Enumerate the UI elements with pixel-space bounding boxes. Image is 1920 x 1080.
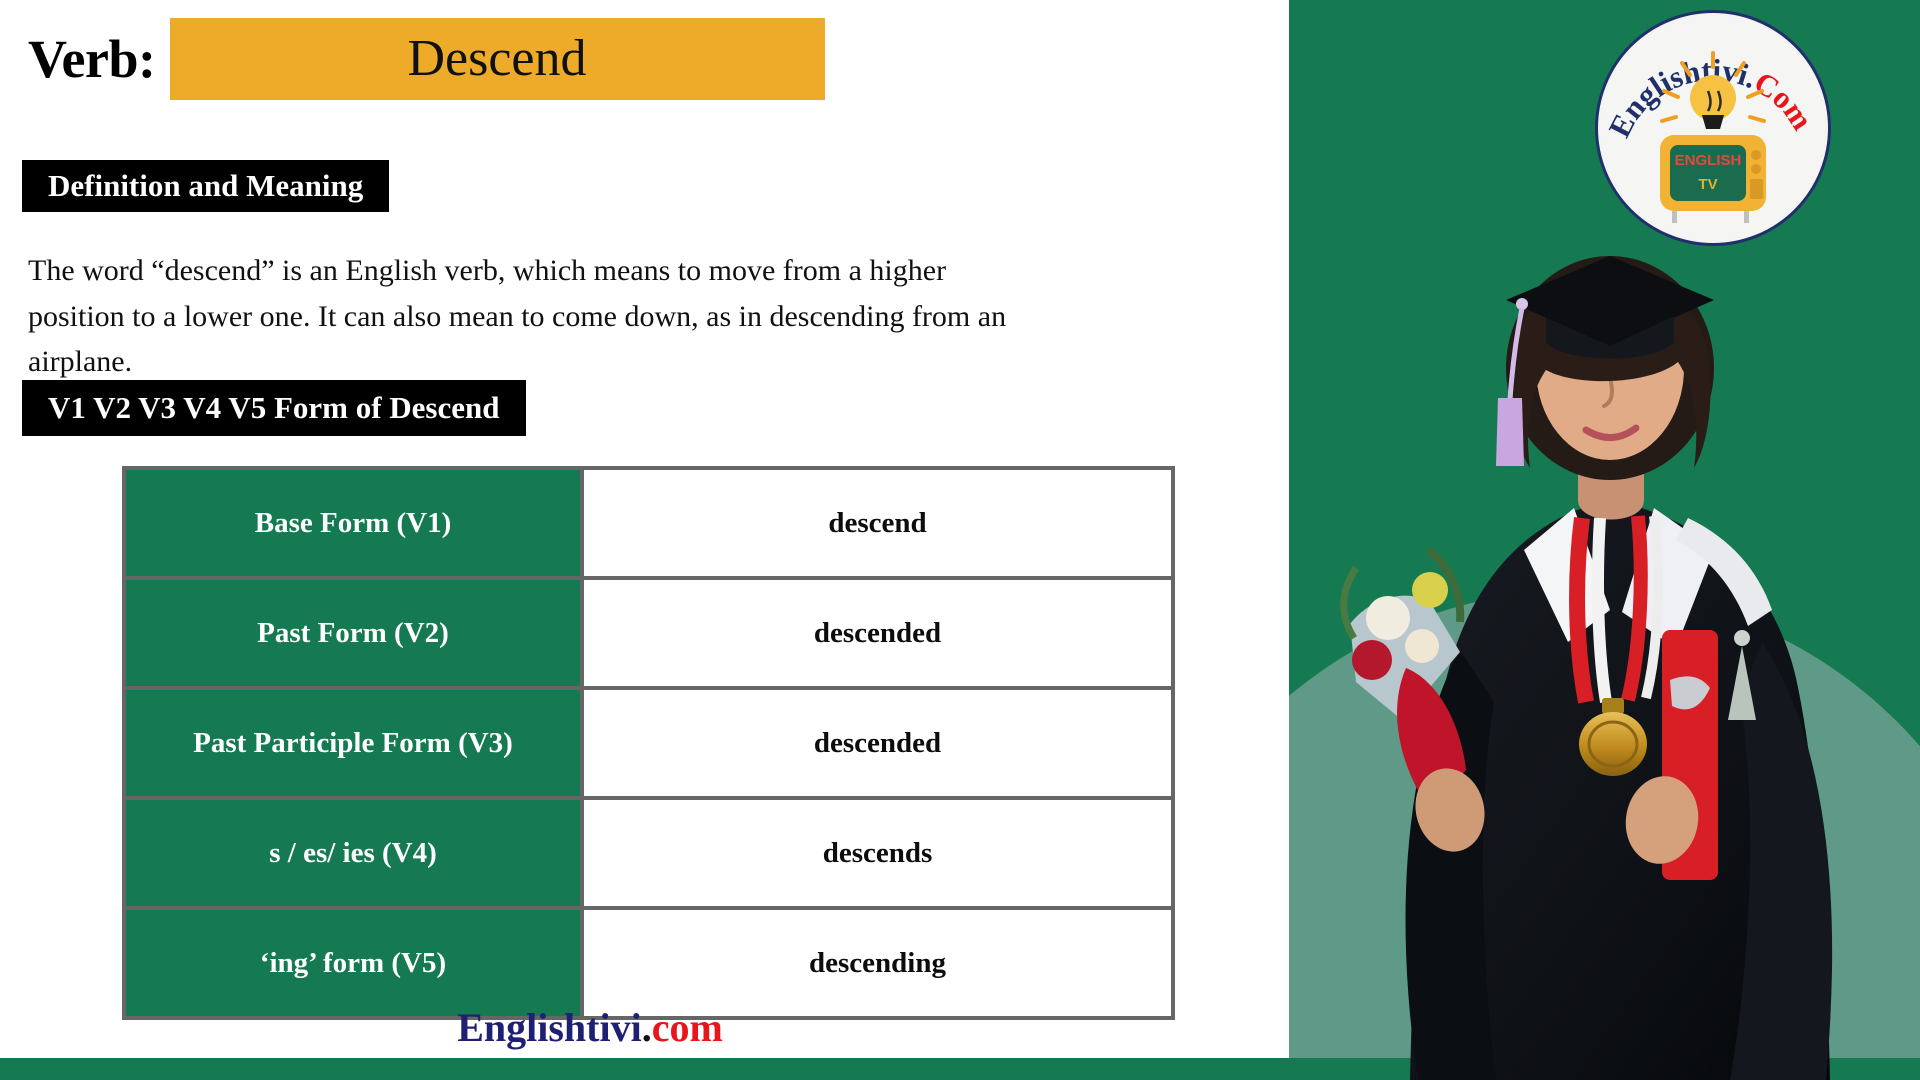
- table-row: Past Participle Form (V3) descended: [124, 688, 1173, 798]
- tv-speaker: [1750, 179, 1763, 199]
- definition-heading: Definition and Meaning: [22, 160, 389, 212]
- lanyard-ribbon-red: [1577, 518, 1586, 702]
- table-cell-value: descended: [582, 688, 1173, 798]
- verb-header: Verb: Descend: [28, 18, 825, 100]
- table-cell-label: s / es/ ies (V4): [124, 798, 582, 908]
- graduate-photo: [1310, 250, 1910, 1080]
- table-cell-value: descend: [582, 468, 1173, 578]
- flower-white-1: [1366, 596, 1410, 640]
- englishtivi-logo[interactable]: Englishtivi.Com: [1595, 10, 1831, 246]
- verb-forms-table: Base Form (V1) descend Past Form (V2) de…: [122, 466, 1175, 1020]
- table-row: s / es/ ies (V4) descends: [124, 798, 1173, 908]
- forms-heading: V1 V2 V3 V4 V5 Form of Descend: [22, 380, 526, 436]
- tv-screen-label: ENGLISH: [1675, 152, 1742, 169]
- footer-brand: Englishtivi.com: [0, 1004, 1180, 1051]
- tv-screen-label-2: TV: [1698, 176, 1717, 193]
- tv-leg-left: [1672, 211, 1677, 223]
- table-cell-label: Past Form (V2): [124, 578, 582, 688]
- tv-leg-right: [1744, 211, 1749, 223]
- verb-word: Descend: [407, 33, 586, 85]
- graduate-illustration: [1310, 250, 1910, 1080]
- flower-red-1: [1352, 640, 1392, 680]
- table-cell-label: Past Participle Form (V3): [124, 688, 582, 798]
- gown-cord-button: [1734, 630, 1750, 646]
- flower-yellow-1: [1412, 572, 1448, 608]
- verb-word-box: Descend: [170, 18, 825, 100]
- footer-brand-name: Englishtivi: [457, 1005, 642, 1050]
- tv-knob-1: [1751, 150, 1761, 160]
- content-pane: Verb: Descend Definition and Meaning The…: [0, 0, 1289, 1080]
- table-row: Base Form (V1) descend: [124, 468, 1173, 578]
- table-row: Past Form (V2) descended: [124, 578, 1173, 688]
- page-root: Verb: Descend Definition and Meaning The…: [0, 0, 1920, 1080]
- verb-label: Verb:: [28, 32, 156, 86]
- medal-clasp: [1602, 698, 1624, 714]
- verb-forms-table-body: Base Form (V1) descend Past Form (V2) de…: [124, 468, 1173, 1018]
- tassel-fringe: [1496, 398, 1524, 466]
- table-cell-value: descending: [582, 908, 1173, 1018]
- logo-graphic: Englishtivi.Com: [1598, 13, 1828, 243]
- lightbulb-icon: [1690, 75, 1736, 121]
- table-cell-value: descended: [582, 578, 1173, 688]
- footer-brand-tld: com: [652, 1005, 723, 1050]
- tv-knob-2: [1751, 164, 1761, 174]
- flower-white-2: [1405, 629, 1439, 663]
- table-row: ‘ing’ form (V5) descending: [124, 908, 1173, 1018]
- definition-text: The word “descend” is an English verb, w…: [28, 248, 1038, 385]
- table-cell-value: descends: [582, 798, 1173, 908]
- footer-brand-dot: .: [642, 1005, 652, 1050]
- table-cell-label: ‘ing’ form (V5): [124, 908, 582, 1018]
- table-cell-label: Base Form (V1): [124, 468, 582, 578]
